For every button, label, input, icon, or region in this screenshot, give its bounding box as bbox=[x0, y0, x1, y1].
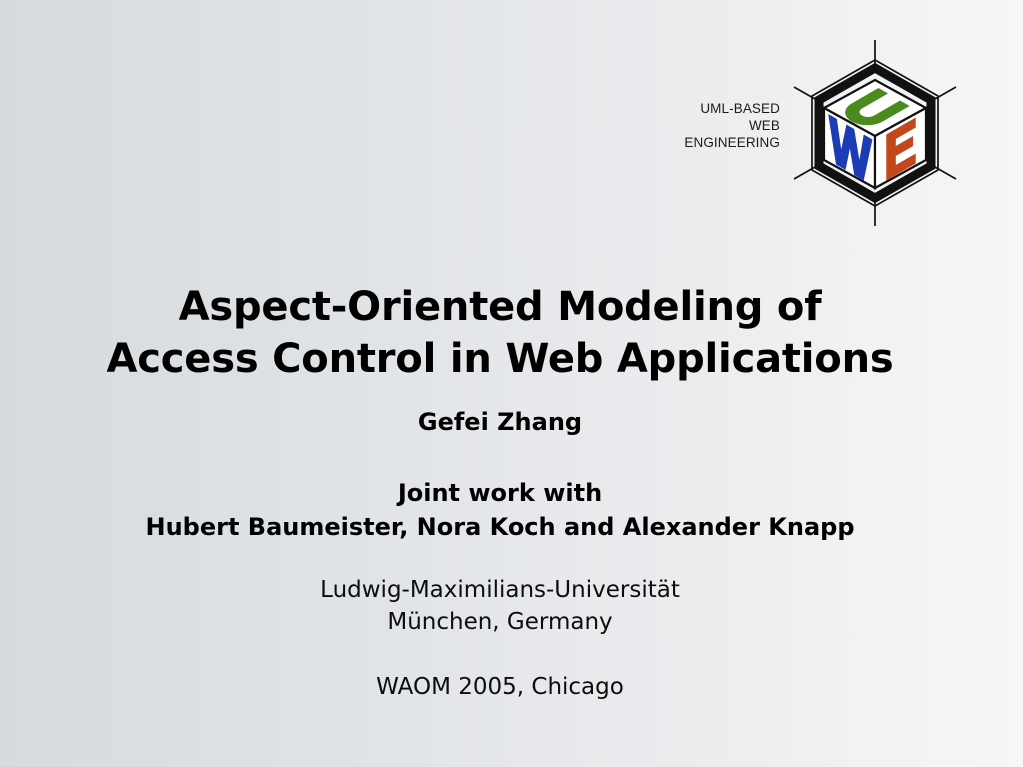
uwe-logo-caption: UML-BASED WEB ENGINEERING bbox=[640, 100, 780, 151]
page-title: Aspect-Oriented Modeling of Access Contr… bbox=[0, 281, 1000, 385]
joint-work-collaborators: Hubert Baumeister, Nora Koch and Alexand… bbox=[0, 510, 1000, 544]
uwe-logo-svg bbox=[780, 38, 970, 228]
speaker-name: Gefei Zhang bbox=[0, 406, 1000, 438]
presentation-slide: UML-BASED WEB ENGINEERING bbox=[0, 0, 1023, 767]
isometric-cube bbox=[824, 80, 926, 188]
uwe-logo bbox=[780, 38, 970, 228]
title-line-1: Aspect-Oriented Modeling of bbox=[0, 281, 1000, 333]
title-line-2: Access Control in Web Applications bbox=[0, 333, 1000, 385]
affiliation-university: Ludwig-Maximilians-Universität bbox=[0, 574, 1000, 606]
logo-block: UML-BASED WEB ENGINEERING bbox=[640, 38, 970, 228]
affiliation-city: München, Germany bbox=[0, 606, 1000, 638]
joint-work-block: Joint work with Hubert Baumeister, Nora … bbox=[0, 476, 1000, 544]
joint-work-heading: Joint work with bbox=[0, 476, 1000, 510]
venue-label: WAOM 2005, Chicago bbox=[0, 672, 1000, 702]
affiliation-block: Ludwig-Maximilians-Universität München, … bbox=[0, 574, 1000, 638]
